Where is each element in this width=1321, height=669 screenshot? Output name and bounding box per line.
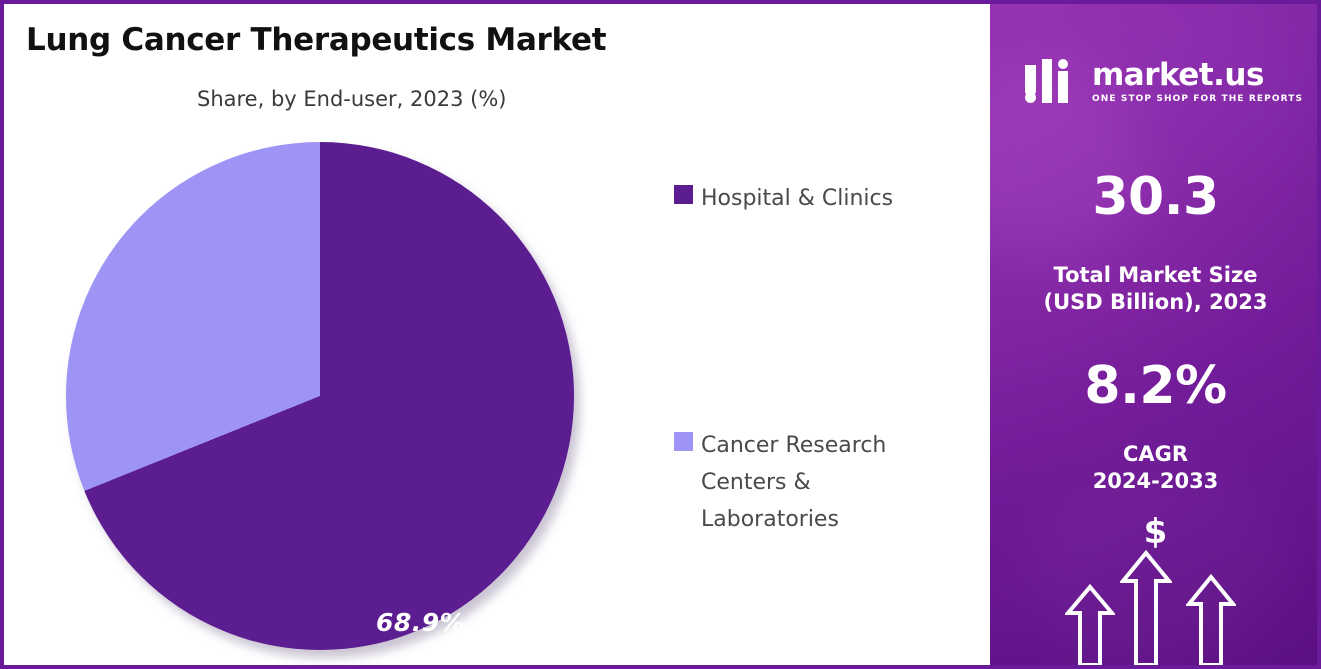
- legend-label: Cancer Research Centers & Laboratories: [701, 427, 951, 538]
- up-arrow-icon: [1065, 583, 1115, 665]
- stat-cagr-value: 8.2%: [990, 356, 1321, 416]
- dollar-icon: $: [990, 512, 1321, 552]
- chart-legend: Hospital & Clinics Cancer Research Cente…: [674, 180, 964, 538]
- stats-panel: market.us ONE STOP SHOP FOR THE REPORTS …: [990, 4, 1321, 665]
- stat-label-line2: 2024-2033: [1093, 469, 1219, 493]
- legend-item-hospital-clinics[interactable]: Hospital & Clinics: [674, 180, 964, 217]
- legend-swatch-icon: [674, 185, 693, 204]
- stat-market-size-label: Total Market Size (USD Billion), 2023: [990, 262, 1321, 316]
- legend-item-cancer-research-centers[interactable]: Cancer Research Centers & Laboratories: [674, 427, 964, 538]
- chart-panel: Lung Cancer Therapeutics Market Share, b…: [4, 4, 990, 665]
- pie-chart: 68.9%: [66, 142, 582, 658]
- market-us-logo-icon: [1022, 59, 1080, 103]
- chart-subtitle: Share, by End-user, 2023 (%): [197, 87, 506, 111]
- infographic-page: Lung Cancer Therapeutics Market Share, b…: [0, 0, 1321, 669]
- up-arrow-icon: [1120, 549, 1172, 665]
- stat-market-size-value: 30.3: [990, 167, 1321, 227]
- pie-slices[interactable]: [66, 142, 574, 650]
- legend-swatch-icon: [674, 432, 693, 451]
- logo-wordmark: market.us: [1092, 59, 1303, 91]
- stat-cagr-label: CAGR 2024-2033: [990, 441, 1321, 495]
- logo-tagline: ONE STOP SHOP FOR THE REPORTS: [1092, 94, 1303, 104]
- legend-label: Hospital & Clinics: [701, 180, 893, 217]
- pie-slice-label-hospital: 68.9%: [376, 608, 465, 637]
- stat-label-line1: CAGR: [1123, 442, 1188, 466]
- page-title: Lung Cancer Therapeutics Market: [26, 22, 606, 58]
- stat-label-line2: (USD Billion), 2023: [1043, 290, 1267, 314]
- brand-logo[interactable]: market.us ONE STOP SHOP FOR THE REPORTS: [1022, 50, 1303, 112]
- up-arrow-icon: [1186, 573, 1236, 665]
- stat-label-line1: Total Market Size: [1054, 263, 1258, 287]
